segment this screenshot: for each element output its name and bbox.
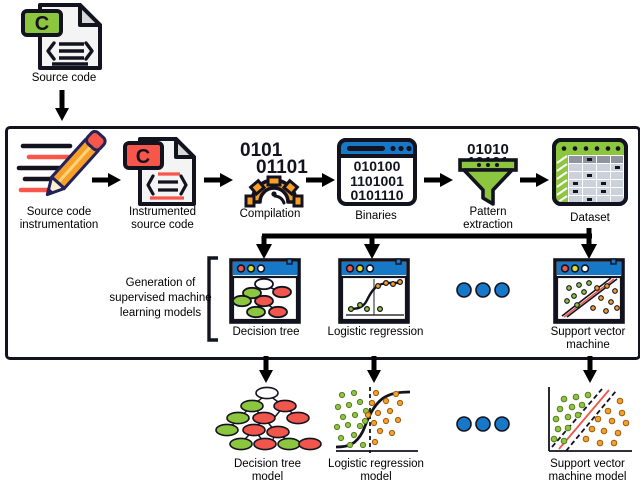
svg-text:C: C <box>35 13 49 35</box>
svm-window-label: Support vector machine <box>538 326 638 352</box>
arrow-source-to-compilation <box>204 172 234 188</box>
svm-model-label: Support vector machine model <box>535 458 640 484</box>
generation-caption-line1: Generation of <box>108 276 213 291</box>
svm-window-label-line1: Support vector <box>538 326 638 339</box>
binaries-row-3: 0101110 <box>351 187 404 203</box>
arrow-instrumentation-to-source <box>92 172 122 188</box>
dataset-label: Dataset <box>545 212 635 225</box>
logistic-scatter-icon <box>330 385 420 457</box>
svm-scatter-icon <box>542 385 634 457</box>
binaries-row-1: 010100 <box>354 158 401 174</box>
source-code-icon: C <box>18 2 110 72</box>
instrumentation-label-line2: instrumentation <box>4 219 114 232</box>
generation-caption-line3: learning models <box>108 306 213 321</box>
funnel-icon: 01010 10101 <box>452 136 524 208</box>
pattern-label-line1: Pattern <box>440 206 536 219</box>
instrumented-source-label: Instrumented source code <box>110 206 215 232</box>
logistic-model-label: Logistic regression model <box>316 458 436 484</box>
dt-model-label-line1: Decision tree <box>215 458 320 471</box>
arrow-pattern-to-dataset <box>520 172 550 188</box>
compilation-label: Compilation <box>222 208 318 221</box>
arrow-to-svm-model <box>581 356 599 384</box>
instrumented-c-badge: C <box>136 146 150 168</box>
decision-tree-model-label: Decision tree model <box>215 458 320 484</box>
diagram-canvas: C Source code <box>0 0 640 490</box>
svm-window-icon <box>553 258 625 324</box>
binaries-label: Binaries <box>330 210 422 223</box>
instrumented-label-line2: source code <box>110 219 215 232</box>
source-code-label: Source code <box>4 72 124 85</box>
lr-model-label-line1: Logistic regression <box>316 458 436 471</box>
arrow-to-decision-tree-model <box>257 356 275 384</box>
pencil-lines-icon <box>15 136 101 208</box>
decision-tree-window-icon <box>229 258 301 324</box>
lr-model-label-line2: model <box>316 471 436 484</box>
generation-caption: Generation of supervised machine learnin… <box>108 276 213 321</box>
instrumentation-label-line1: Source code <box>4 206 114 219</box>
arrow-source-to-panel <box>52 90 72 122</box>
generation-caption-line2: supervised machine <box>108 291 213 306</box>
arrow-compilation-to-binaries <box>306 172 336 188</box>
binary-window-icon: 010100 1101001 0101110 <box>335 136 419 208</box>
arrow-binaries-to-pattern <box>424 172 454 188</box>
document-c-icon: C <box>120 134 200 208</box>
table-grid-icon <box>550 136 630 210</box>
instrumentation-label: Source code instrumentation <box>4 206 114 232</box>
svm-model-label-line1: Support vector <box>535 458 640 471</box>
svm-window-label-line2: machine <box>538 339 638 352</box>
ellipsis-dots-icon <box>455 281 511 299</box>
logistic-window-label: Logistic regression <box>318 326 433 339</box>
svm-model-label-line2: machine model <box>535 471 640 484</box>
ellipsis-dots-icon-bottom <box>455 415 511 433</box>
gear-binary-icon: 0101 01101 <box>232 136 308 206</box>
instrumented-label-line1: Instrumented <box>110 206 215 219</box>
decision-tree-icon <box>214 385 322 457</box>
dt-model-label-line2: model <box>215 471 320 484</box>
decision-tree-window-label: Decision tree <box>218 326 314 339</box>
logistic-curve-window-icon <box>338 258 410 324</box>
dataset-to-models-bus <box>206 228 606 260</box>
compilation-binary-bottom: 01101 <box>256 157 308 178</box>
arrow-to-logistic-model <box>365 356 383 384</box>
